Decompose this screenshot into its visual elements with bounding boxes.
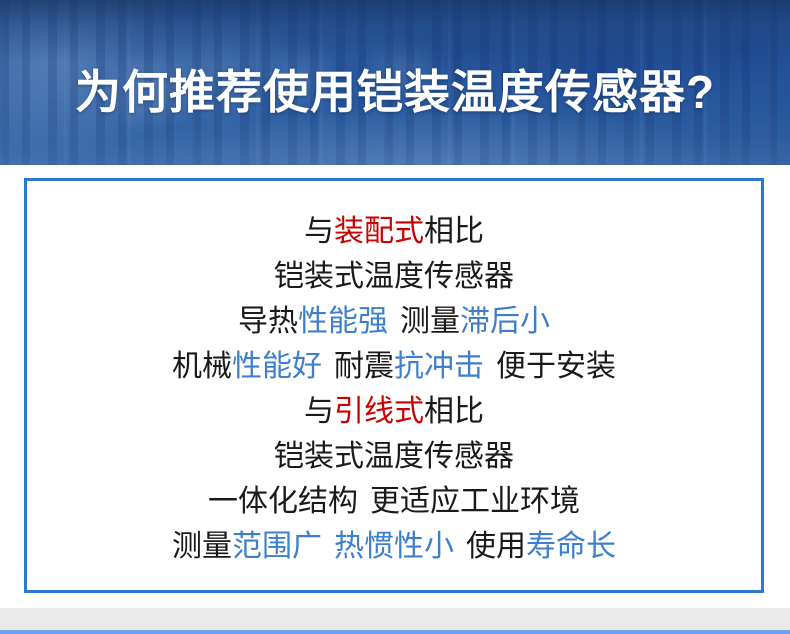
highlight-blue-text: 寿命长: [526, 530, 616, 563]
plain-text: 耐震: [334, 350, 394, 383]
plain-text: 便于安装: [496, 350, 616, 383]
feature-line-range-and-lifetime: 测量范围广热惯性小使用寿命长: [27, 524, 761, 569]
footer-blue-band: [0, 630, 790, 634]
plain-text: 相比: [424, 215, 484, 248]
plain-text: 相比: [424, 395, 484, 428]
plain-text: 测量: [400, 305, 460, 338]
highlight-red-text: 装配式: [334, 215, 424, 248]
footer-gray-band: [0, 608, 790, 630]
feature-line-compare-lead-wire: 与引线式相比: [27, 389, 761, 434]
feature-line-mechanical-performance: 机械性能好耐震抗冲击便于安装: [27, 344, 761, 389]
highlight-blue-text: 热惯性小: [334, 530, 454, 563]
plain-text: 铠装式温度传感器: [274, 260, 514, 293]
highlight-blue-text: 滞后小: [460, 305, 550, 338]
feature-line-list: 与装配式相比铠装式温度传感器导热性能强测量滞后小机械性能好耐震抗冲击便于安装与引…: [27, 209, 761, 569]
plain-text: 与: [304, 215, 334, 248]
plain-text: 一体化结构: [208, 485, 358, 518]
highlight-blue-text: 性能好: [232, 350, 322, 383]
highlight-blue-text: 抗冲击: [394, 350, 484, 383]
hero-title: 为何推荐使用铠装温度传感器?: [0, 66, 790, 118]
plain-text: 使用: [466, 530, 526, 563]
plain-text: 测量: [172, 530, 232, 563]
page-root: 为何推荐使用铠装温度传感器? 与装配式相比铠装式温度传感器导热性能强测量滞后小机…: [0, 0, 790, 634]
plain-text: 铠装式温度传感器: [274, 440, 514, 473]
plain-text: 与: [304, 395, 334, 428]
hero-banner: 为何推荐使用铠装温度传感器?: [0, 0, 790, 165]
highlight-red-text: 引线式: [334, 395, 424, 428]
highlight-blue-text: 性能强: [298, 305, 388, 338]
feature-card: 与装配式相比铠装式温度传感器导热性能强测量滞后小机械性能好耐震抗冲击便于安装与引…: [24, 178, 764, 593]
feature-line-product-name-1: 铠装式温度传感器: [27, 254, 761, 299]
feature-line-compare-assembled: 与装配式相比: [27, 209, 761, 254]
plain-text: 导热: [238, 305, 298, 338]
feature-line-integrated-structure: 一体化结构更适应工业环境: [27, 479, 761, 524]
plain-text: 机械: [172, 350, 232, 383]
feature-line-thermal-conductivity: 导热性能强测量滞后小: [27, 299, 761, 344]
highlight-blue-text: 范围广: [232, 530, 322, 563]
plain-text: 更适应工业环境: [370, 485, 580, 518]
feature-line-product-name-2: 铠装式温度传感器: [27, 434, 761, 479]
content-section: 与装配式相比铠装式温度传感器导热性能强测量滞后小机械性能好耐震抗冲击便于安装与引…: [0, 165, 790, 608]
